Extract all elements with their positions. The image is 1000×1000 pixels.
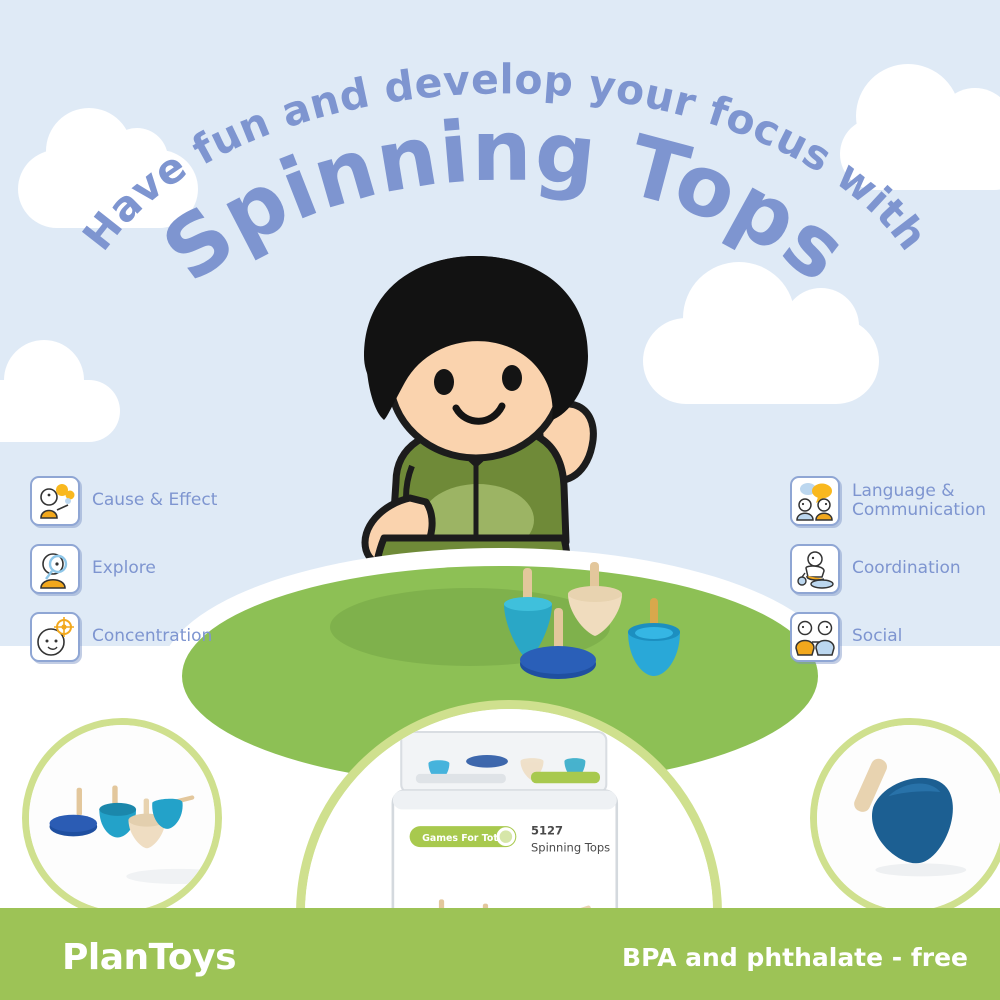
badge-social[interactable]: Social [790,612,902,662]
product-photo-left[interactable] [22,718,222,918]
badge-label: Explore [92,559,156,578]
skills-left-column: Cause & Effect Explore [30,476,217,662]
box-brand-pill-text: Games For Tots [422,833,504,844]
concentration-icon [30,612,80,662]
badge-coordination[interactable]: Coordination [790,544,961,594]
badge-label: Language & Communication [852,482,986,520]
bpa-free-note: BPA and phthalate - free [622,943,968,972]
badge-concentration[interactable]: Concentration [30,612,212,662]
badge-label: Cause & Effect [92,491,217,510]
product-photo-right[interactable] [810,718,1000,918]
badge-label: Concentration [92,627,212,646]
badge-cause-and-effect[interactable]: Cause & Effect [30,476,217,526]
cause-and-effect-icon [30,476,80,526]
language-communication-icon [790,476,840,526]
poster-canvas: Have fun and develop your focus with Spi… [0,0,1000,1000]
coordination-icon [790,544,840,594]
box-item-code: 5127 [531,824,563,838]
skills-right-column: Language & Communication Coordination [790,476,986,662]
explore-icon [30,544,80,594]
badge-label: Social [852,627,902,646]
cloud-icon [0,380,120,442]
badge-language-communication[interactable]: Language & Communication [790,476,986,526]
plantoys-logo: PlanToys [62,937,236,978]
badge-explore[interactable]: Explore [30,544,156,594]
social-icon [790,612,840,662]
spinning-tops-group [480,560,700,690]
badge-label: Coordination [852,559,961,578]
box-item-name: Spinning Tops [531,840,610,854]
